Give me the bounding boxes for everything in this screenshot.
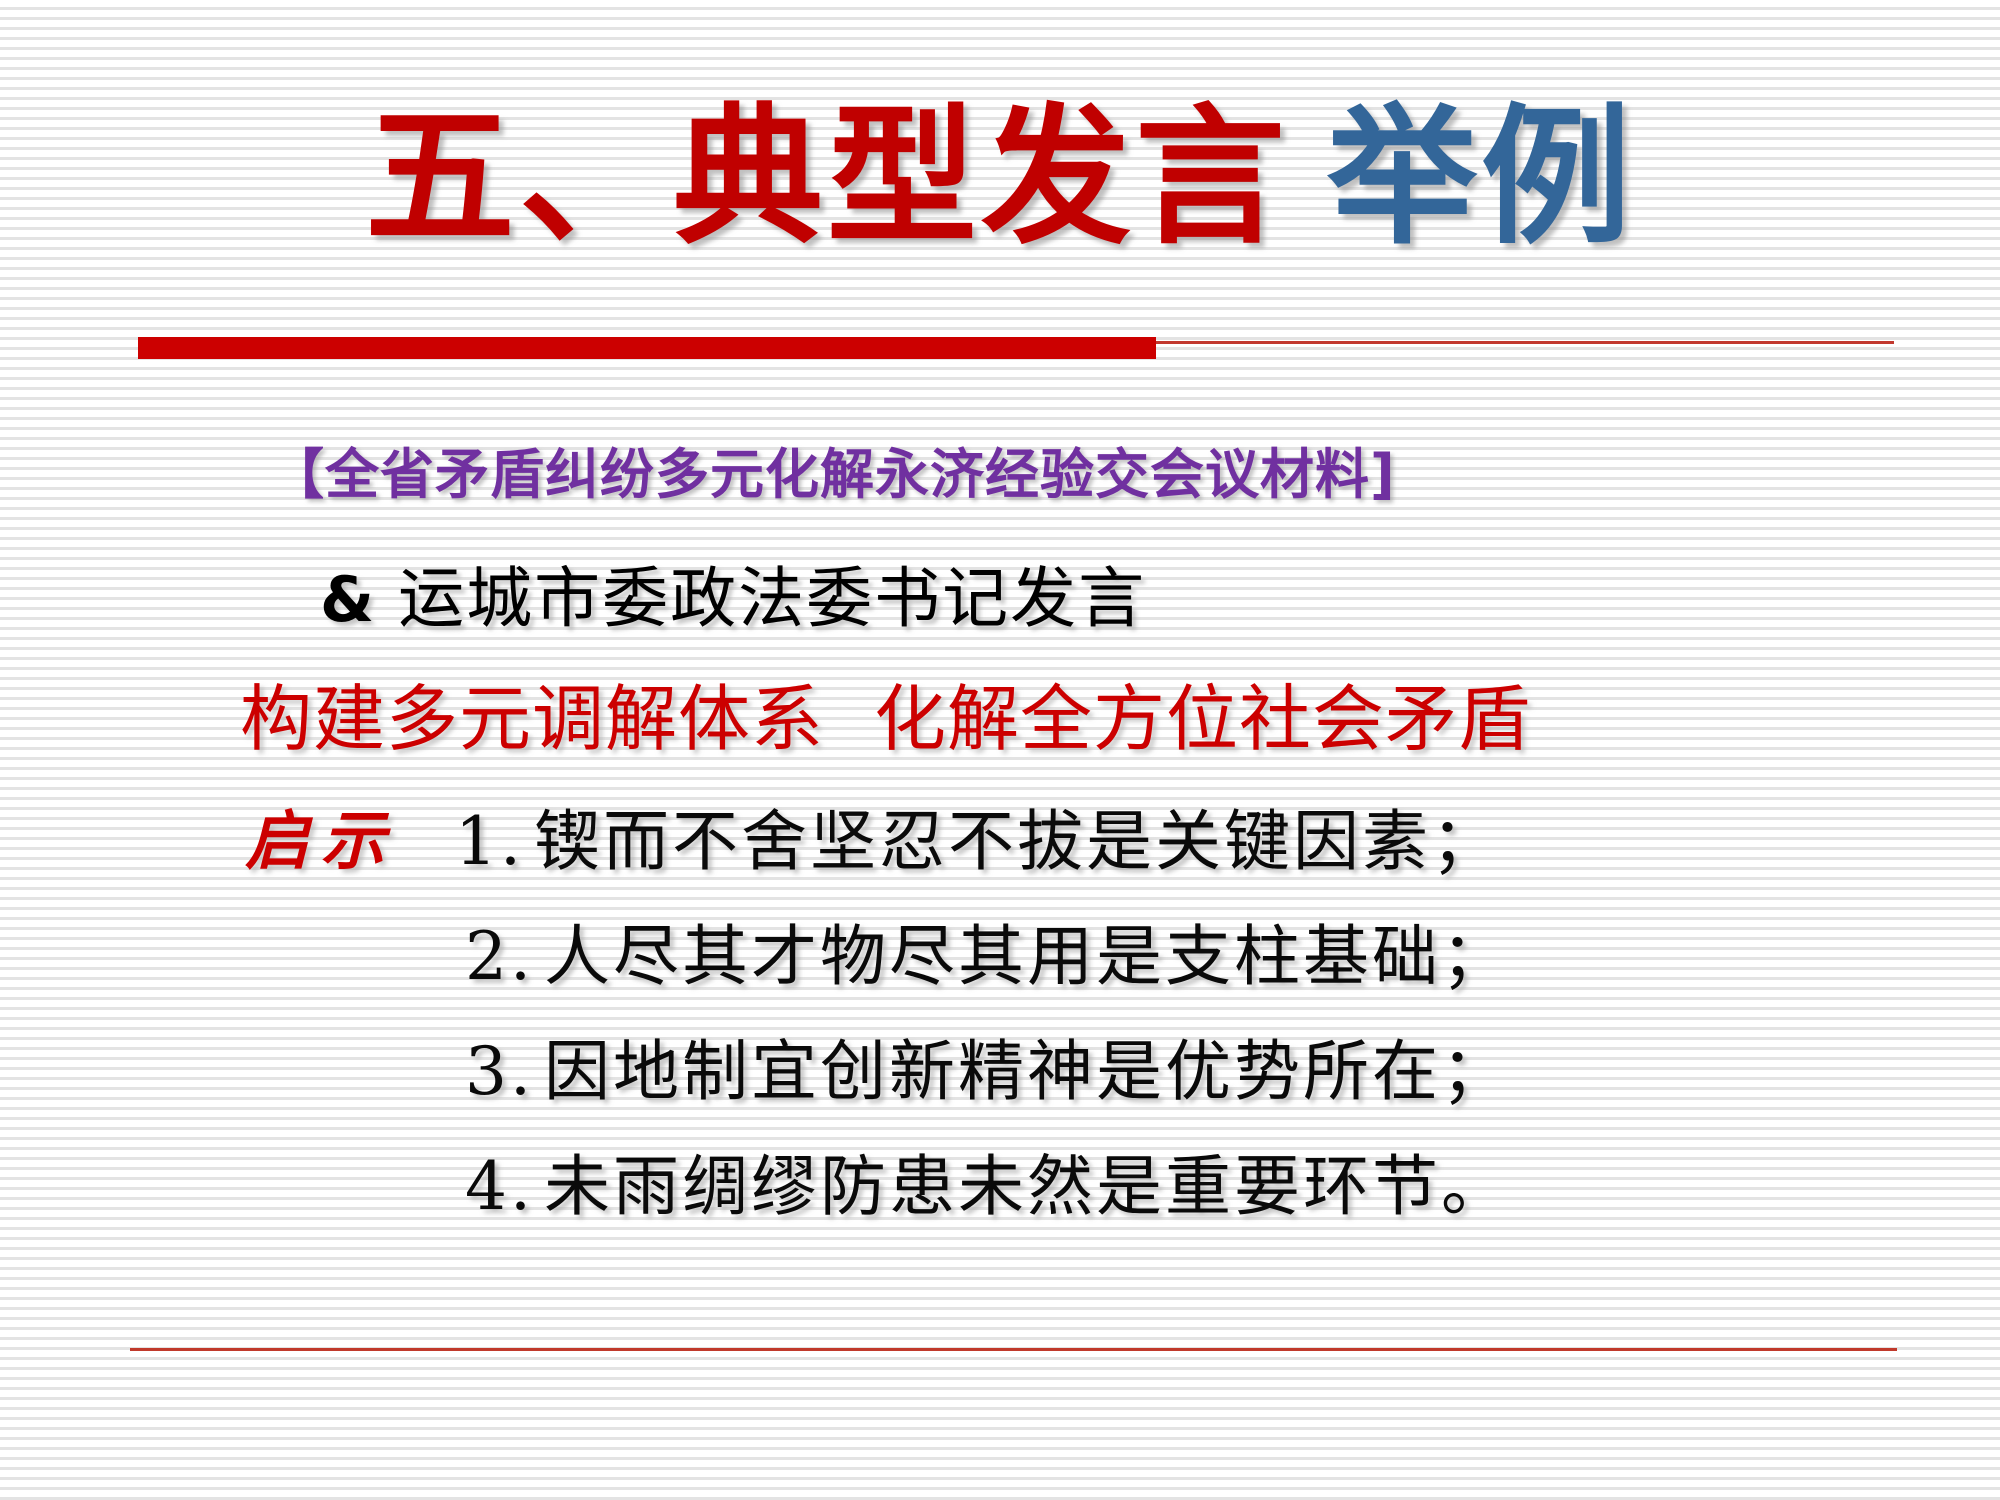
insight-text-2: 人尽其才物尽其用是支柱基础； [544, 918, 1510, 995]
insight-item-3: 3.因地制宜创新精神是优势所在； [465, 1018, 1510, 1114]
speaker-line-text: 运城市委政法委书记发言 [398, 560, 1146, 637]
page-title: 五、典型发言举例 [0, 100, 2000, 258]
bracket-source-line: 【全省矛盾纠纷多元化解永济经验交会议材料] [270, 430, 1396, 509]
title-red-segment: 五、典型发言 [365, 91, 1289, 265]
speaker-line: &运城市委政法委书记发言 [320, 545, 1146, 641]
insight-text-1: 锲而不舍坚忍不拔是关键因素； [534, 803, 1500, 880]
headline-left: 构建多元调解体系 [240, 677, 824, 761]
title-blue-segment: 举例 [1327, 91, 1635, 265]
insight-number-3: 3. [465, 1033, 534, 1110]
ampersand-bullet-icon: & [320, 563, 376, 636]
insight-number-2: 2. [465, 918, 534, 995]
insight-item-4: 4.未雨绸缪防患未然是重要环节。 [465, 1133, 1510, 1229]
insight-text-4: 未雨绸缪防患未然是重要环节。 [544, 1148, 1510, 1225]
footer-rule [130, 1348, 1897, 1351]
headline-line: 构建多元调解体系化解全方位社会矛盾 [240, 660, 1531, 765]
insights-label: 启示 [245, 790, 397, 882]
insight-text-3: 因地制宜创新精神是优势所在； [544, 1033, 1510, 1110]
insight-item-2: 2.人尽其才物尽其用是支柱基础； [465, 903, 1510, 999]
insight-item-1: 1.锲而不舍坚忍不拔是关键因素； [455, 788, 1500, 884]
title-underline-thin [1156, 341, 1894, 344]
insight-number-1: 1. [455, 803, 524, 880]
slide-canvas: 五、典型发言举例 【全省矛盾纠纷多元化解永济经验交会议材料] &运城市委政法委书… [0, 0, 2000, 1500]
headline-right: 化解全方位社会矛盾 [874, 677, 1531, 761]
title-underline-thick [138, 337, 1156, 359]
insight-number-4: 4. [465, 1148, 534, 1225]
